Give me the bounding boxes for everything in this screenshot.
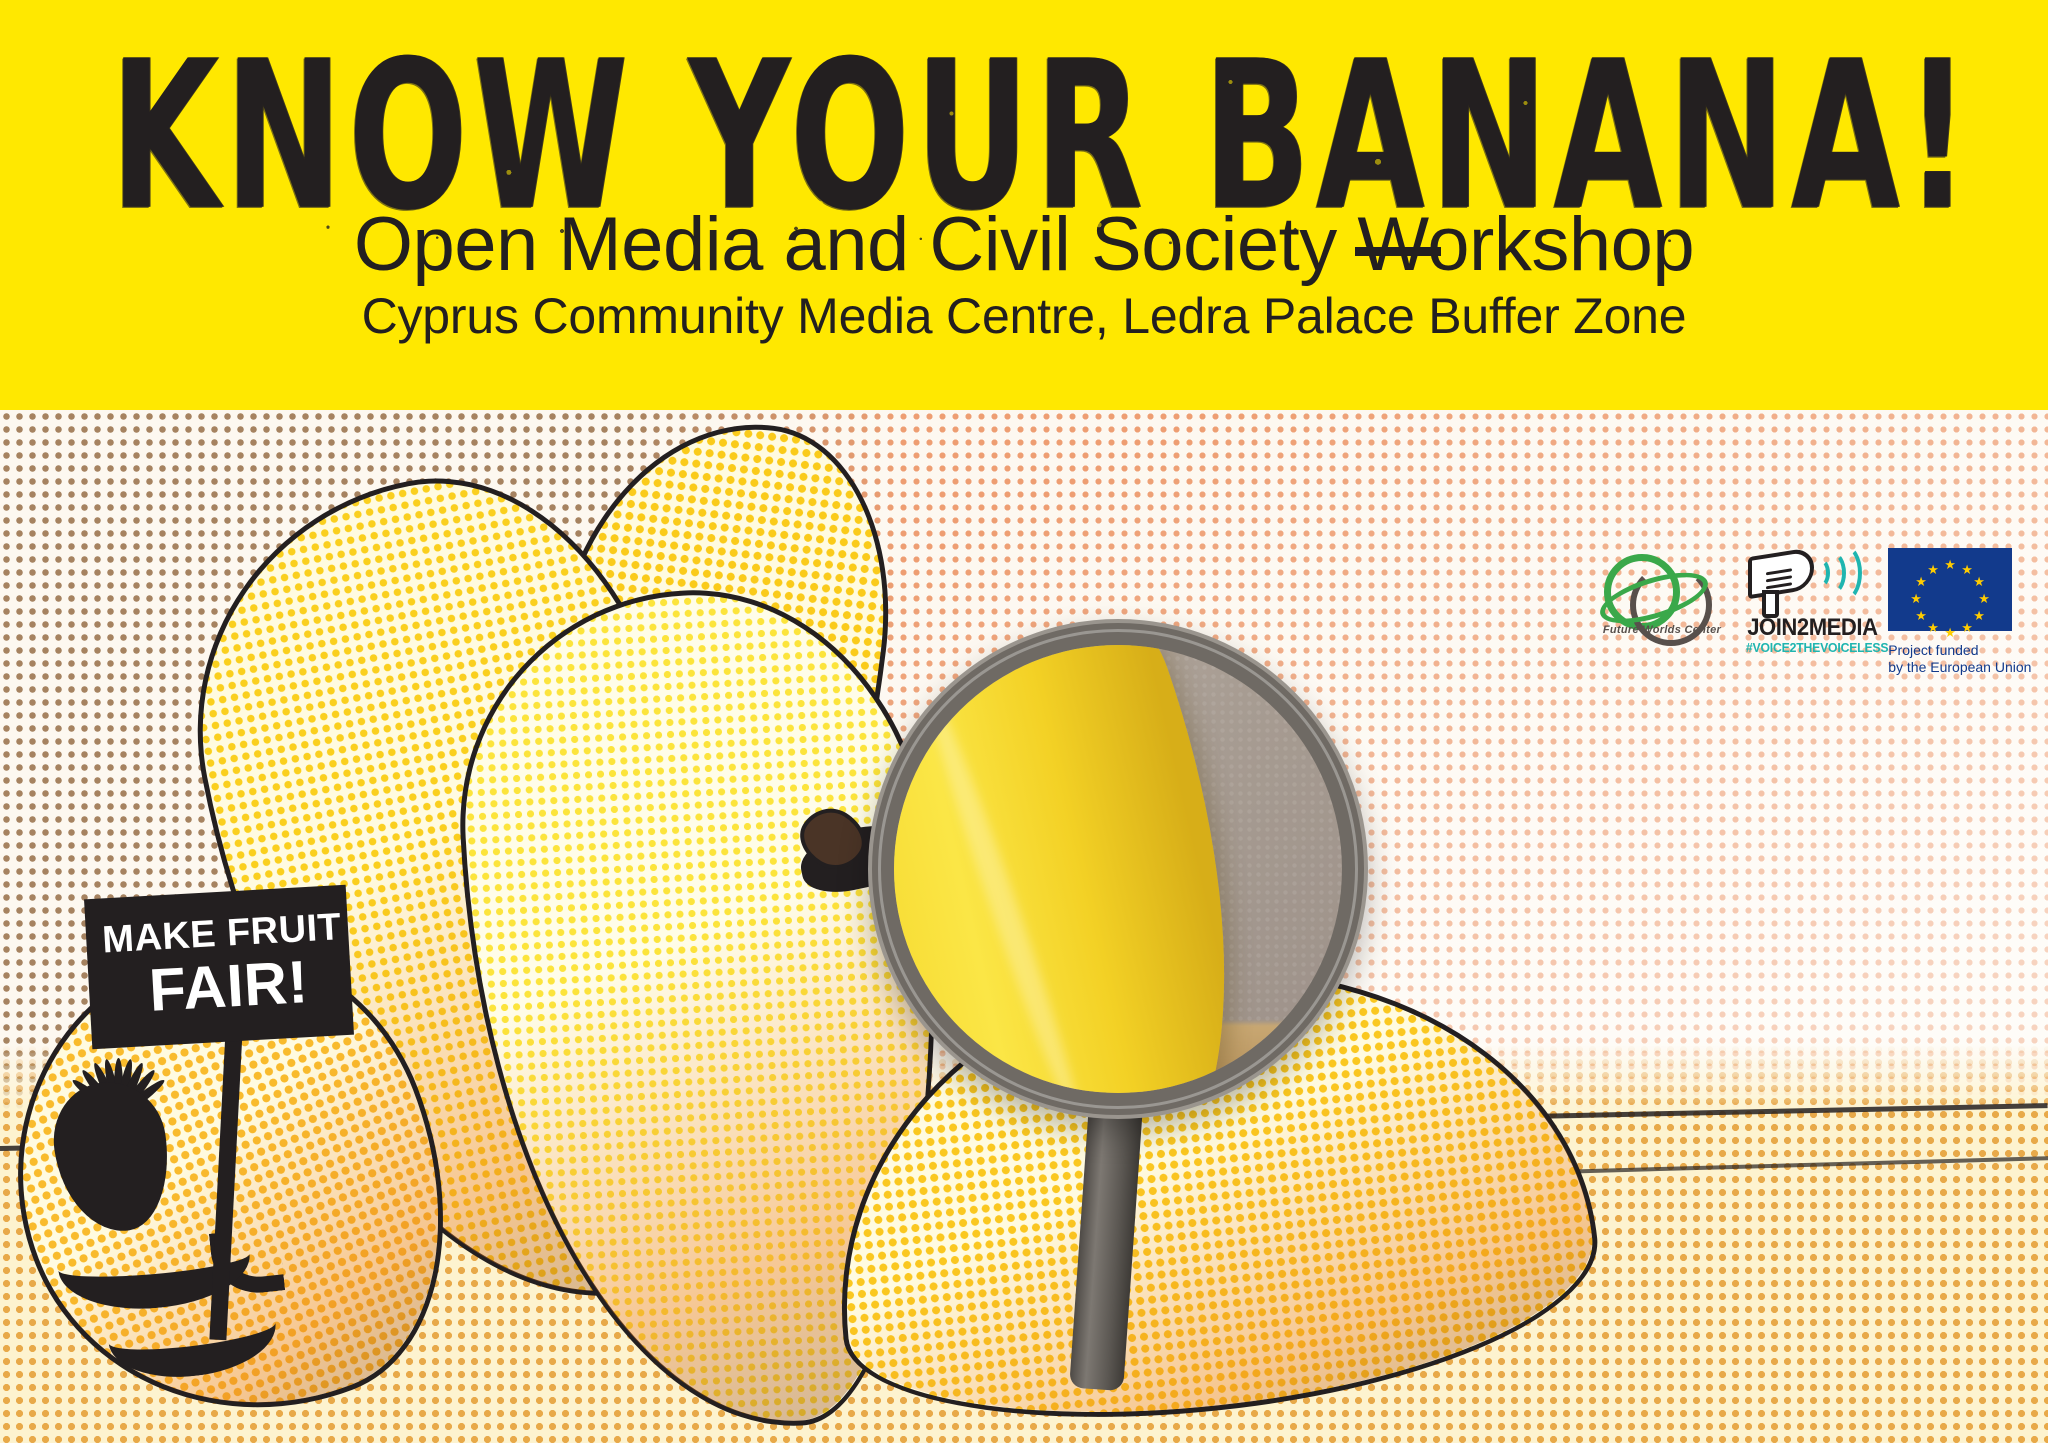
logo-strip: Future Worlds Center JOIN2MEDIA #VOICE2T… bbox=[1598, 548, 2038, 708]
logo-join2media: JOIN2MEDIA #VOICE2THEVOICELESS bbox=[1742, 548, 1870, 658]
poster-canvas: MAKE FRUIT FAIR! Future Worlds Center bbox=[0, 0, 2048, 1443]
make-fruit-fair-placard: MAKE FRUIT FAIR! bbox=[84, 885, 354, 1049]
page-title: KNOW YOUR BANANA! bbox=[72, 36, 1977, 237]
sound-wave-icon bbox=[1826, 544, 1862, 602]
eu-funding-caption: Project funded by the European Union bbox=[1888, 642, 2038, 677]
logo-name: JOIN2MEDIA bbox=[1747, 614, 1867, 642]
eu-flag-icon bbox=[1888, 548, 2012, 631]
poster-header: KNOW YOUR BANANA! Open Media and Civil S… bbox=[0, 0, 2048, 410]
title-block: KNOW YOUR BANANA! Open Media and Civil S… bbox=[0, 0, 2048, 341]
logo-future-worlds-center: Future Worlds Center bbox=[1598, 548, 1724, 656]
megaphone-icon bbox=[1748, 547, 1814, 599]
poster-artwork: MAKE FRUIT FAIR! Future Worlds Center bbox=[0, 410, 2048, 1443]
placard-line-2: FAIR! bbox=[148, 950, 353, 1021]
title-underline-mark bbox=[1355, 247, 1441, 256]
logo-european-union: Project funded by the European Union bbox=[1888, 548, 2038, 678]
magnifier-lens bbox=[894, 645, 1342, 1093]
magnifying-glass-icon bbox=[872, 623, 1364, 1115]
poster-location: Cyprus Community Media Centre, Ledra Pal… bbox=[0, 291, 2048, 341]
logo-tagline: #VOICE2THEVOICELESS bbox=[1746, 640, 1868, 655]
logo-label: Future Worlds Center bbox=[1598, 624, 1726, 636]
